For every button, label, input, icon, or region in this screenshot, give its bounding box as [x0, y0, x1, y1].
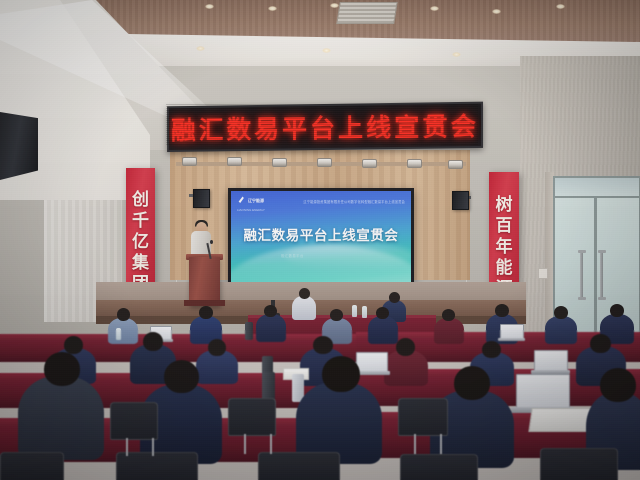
chair[interactable] [540, 448, 618, 480]
audience-person-head [554, 306, 568, 319]
laptop-screen [534, 350, 568, 372]
audience-person-body [256, 314, 286, 342]
stage-lamp-icon [272, 158, 287, 167]
seated-person-head [299, 288, 310, 299]
chair[interactable] [116, 452, 198, 480]
banner-char: 创 [132, 191, 149, 210]
water-bottle [362, 306, 367, 318]
slide-header-note: 辽宁能源投资集团有限责任公司数字化转型融汇数易平台上线宣贯会 [303, 199, 405, 204]
wall-speaker-stage-right [452, 191, 469, 210]
podium-microphone-head-icon [210, 240, 213, 244]
stage-lamp-icon [448, 160, 463, 169]
seated-person-head [389, 292, 400, 303]
door-handle-cap [578, 297, 586, 300]
door-handle-icon[interactable] [600, 252, 603, 298]
banner-char: 百 [496, 217, 513, 236]
stage-lamp-icon [407, 159, 422, 168]
audience-person-body [18, 376, 104, 460]
slide-logo-subtext: LIAONING ENERGY [237, 208, 265, 212]
thermos-flask [245, 322, 253, 340]
audience-person-head [64, 336, 83, 354]
audience-person-head [330, 309, 343, 321]
banner-char: 千 [132, 212, 149, 231]
chair[interactable] [398, 398, 448, 436]
stage-lamp-icon [182, 157, 197, 166]
laptop-screen [516, 374, 570, 409]
audience-person-body [368, 316, 398, 344]
audience-person-head [208, 339, 226, 356]
audience-person-head [454, 366, 490, 400]
audience-person-head [600, 368, 636, 402]
led-banner: 融汇数易平台上线宣贯会 [167, 102, 483, 152]
downlight-icon [205, 4, 214, 9]
audience-person-head [396, 338, 415, 356]
water-bottle [352, 305, 357, 317]
banner-char: 树 [496, 196, 513, 215]
downlight-icon [322, 48, 331, 53]
audience-person-body [545, 316, 577, 344]
downlight-icon [268, 6, 277, 11]
audience-person-head [44, 352, 80, 386]
slide-logo-text: 辽宁能源 [248, 198, 264, 203]
stage-lamp-icon [317, 158, 332, 167]
chair-leg [152, 438, 154, 456]
banner-char: 集 [132, 254, 149, 273]
banner-char: 年 [496, 238, 513, 257]
wall-speaker-stage-left [193, 189, 210, 208]
chair[interactable] [258, 452, 340, 480]
chair-leg [244, 434, 246, 454]
downlight-icon [430, 6, 439, 11]
audience-person-head [164, 360, 199, 393]
chair[interactable] [228, 398, 276, 436]
conference-photo: 融汇数易平台上线宣贯会 辽宁能源 LIAONING ENERGY 辽宁能源投资集… [0, 0, 640, 480]
table-document [528, 408, 591, 432]
audience-person-body [108, 318, 138, 344]
chair-leg [126, 438, 128, 456]
projection-screen: 辽宁能源 LIAONING ENERGY 辽宁能源投资集团有限责任公司数字化转型… [231, 191, 411, 285]
slide-logo: 辽宁能源 [237, 196, 264, 205]
slide-logo-mark-icon [237, 196, 246, 205]
door-mullion [594, 196, 597, 346]
door-handle-cap [598, 297, 606, 300]
downlight-icon [556, 4, 565, 9]
chair-leg [440, 434, 442, 454]
audience-person-head [313, 336, 333, 354]
laptop-screen [356, 352, 388, 373]
downlight-icon [452, 52, 461, 57]
seated-person-body [292, 296, 316, 320]
audience-person-body [434, 318, 464, 344]
speaker-podium [189, 257, 220, 306]
slide-watermark: 融汇数易平台 [281, 253, 304, 258]
audience-person-head [495, 304, 509, 317]
stage-lamp-icon [227, 157, 242, 166]
chair[interactable] [0, 452, 64, 480]
wall-outlet[interactable] [538, 268, 548, 279]
ceiling-air-vent-icon [336, 2, 397, 24]
audience-person-head [322, 356, 360, 392]
audience-person-head [199, 306, 213, 319]
audience-person-head [610, 304, 624, 317]
banner-char: 亿 [132, 233, 149, 252]
chair[interactable] [400, 454, 478, 480]
stage-lamp-icon [362, 159, 377, 168]
chair-leg [270, 434, 272, 454]
door-handle-cap [598, 250, 606, 253]
wall-speaker-left [0, 112, 38, 180]
door-handle-icon[interactable] [580, 252, 583, 298]
slide-title: 融汇数易平台上线宣贯会 [231, 224, 411, 244]
audience-person-head [143, 332, 163, 351]
led-banner-text: 融汇数易平台上线宣贯会 [171, 107, 479, 147]
downlight-icon [330, 3, 339, 8]
downlight-icon [492, 9, 501, 14]
water-bottle [116, 328, 121, 340]
audience-person-head [590, 334, 611, 353]
door-handle-cap [578, 250, 586, 253]
audience-person-head [117, 308, 130, 321]
audience-person-head [482, 341, 501, 358]
downlight-icon [196, 46, 205, 51]
chair-leg [414, 434, 416, 454]
banner-char: 能 [496, 259, 513, 278]
chair[interactable] [110, 402, 158, 440]
audience-table-top [0, 334, 360, 340]
laptop-base [498, 338, 525, 341]
audience-person-head [442, 309, 455, 321]
audience-person-head [376, 307, 389, 319]
audience-person-head [264, 305, 277, 317]
